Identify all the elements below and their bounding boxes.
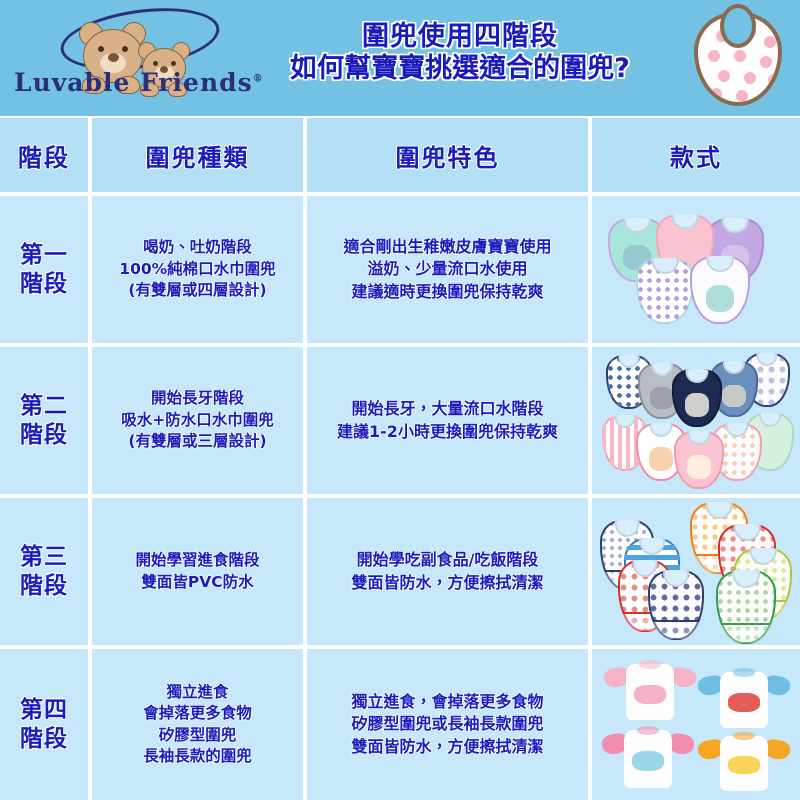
bib-type-line: 長袖長款的圍兜 (143, 746, 252, 767)
bib-type-line: 會掉落更多食物 (143, 703, 252, 724)
stage-cell: 第一 階段 (0, 196, 92, 347)
smock-collar (733, 668, 755, 676)
bib-feature-text: 開始學吃副食品/吃飯階段 雙面皆防水，方便擦拭清潔 (347, 549, 547, 593)
bib-type-line: 吸水+防水口水巾圍兜 (121, 410, 274, 431)
bib-icon (690, 8, 786, 110)
stage-label-line: 階段 (20, 270, 68, 299)
pvc-waterproof-pocket-bib-sets-image (594, 498, 798, 645)
bib-dot (768, 74, 780, 86)
bib-motif (722, 385, 745, 407)
column-header-stage-label: 階段 (18, 138, 70, 173)
column-header-type: 圍兜種類 (92, 118, 307, 196)
bib-pocket (718, 623, 773, 642)
bib-type-line: 喝奶、吐奶階段 (119, 237, 275, 258)
stage-cell: 第三 階段 (0, 498, 92, 649)
navy-dot-pvc-bib (648, 570, 704, 640)
page-title: 圍兜使用四階段 如何幫寶寶挑選適合的圍兜? (250, 22, 670, 84)
stage-label: 第四 階段 (20, 696, 68, 754)
bib-type-cell: 開始長牙階段 吸水+防水口水巾圍兜 (有雙層或三層設計) (92, 347, 307, 498)
bib-feature-line: 建議適時更換圍兜保持乾爽 (343, 281, 551, 303)
absorbent-waterproof-bib-sets-image (594, 347, 798, 494)
bib-feature-text: 適合剛出生稚嫩皮膚寶寶使用 溢奶、少量流口水使用 建議適時更換圍兜保持乾爽 (339, 236, 555, 302)
column-header-style: 款式 (592, 118, 800, 196)
bib-type-line: (有雙層或三層設計) (121, 431, 274, 452)
bib-dot (760, 56, 772, 68)
smock-motif (728, 693, 759, 712)
column-header-feature-label: 圍兜特色 (396, 138, 500, 173)
bib-dot (752, 104, 764, 106)
bib-feature-line: 溢奶、少量流口水使用 (343, 258, 551, 280)
bib-feature-cell: 獨立進食，會掉落更多食物 矽膠型圍兜或長袖長款圍兜 雙面皆防水，方便擦拭清潔 (307, 649, 592, 800)
bib-type-cell: 獨立進食 會掉落更多食物 矽膠型圍兜 長袖長款的圍兜 (92, 649, 307, 800)
page-banner: Luvable Friends® 圍兜使用四階段 如何幫寶寶挑選適合的圍兜? (0, 0, 800, 118)
bib-type-line: (有雙層或四層設計) (119, 280, 275, 301)
bib-type-line: 開始學習進食階段 (135, 550, 259, 571)
bib-dot (762, 92, 774, 104)
table-header-row: 階段 圍兜種類 圍兜特色 款式 (0, 118, 800, 196)
stage-cell: 第二 階段 (0, 347, 92, 498)
bib-type-line: 雙面皆PVC防水 (135, 572, 259, 593)
bib-style-cell (592, 498, 800, 649)
bib-pocket (650, 620, 702, 638)
bib-type-text: 開始學習進食階段 雙面皆PVC防水 (131, 550, 263, 593)
bib-dot (744, 72, 756, 84)
stage-label: 第二 階段 (20, 392, 68, 450)
purple-print-bib (636, 258, 694, 324)
bib-style-cell (592, 347, 800, 498)
bib-dot-pattern (636, 258, 694, 324)
bib-dot (708, 50, 720, 62)
pastel-cotton-bib-set-image (594, 196, 798, 343)
smock-collar (637, 726, 659, 735)
bib-motif (649, 447, 673, 470)
stage-label-line: 階段 (20, 421, 68, 450)
bib-dot (710, 88, 722, 100)
blue-balloon-smock (698, 667, 790, 731)
brand-name-text: Luvable Friends (14, 68, 253, 97)
bib-feature-text: 開始長牙，大量流口水階段 建議1-2小時更換圍兜保持乾爽 (333, 398, 562, 442)
bib-feature-text: 獨立進食，會掉落更多食物 矽膠型圍兜或長袖長款圍兜 雙面皆防水，方便擦拭清潔 (347, 691, 547, 757)
smock-motif (632, 751, 663, 771)
column-header-style-label: 款式 (670, 138, 722, 173)
bib-motif (706, 285, 735, 312)
stage-label-line: 第三 (20, 543, 68, 572)
long-sleeve-smock-bibs-image (594, 651, 798, 798)
brand-name: Luvable Friends® (14, 68, 254, 97)
column-header-type-label: 圍兜種類 (146, 138, 250, 173)
bib-style-cell (592, 649, 800, 800)
smock-motif (728, 756, 759, 775)
bib-type-text: 喝奶、吐奶階段 100%純棉口水巾圍兜 (有雙層或四層設計) (115, 237, 279, 301)
bib-dot (736, 90, 748, 102)
green-grocery-pvc-bib (716, 570, 776, 644)
stage-label-line: 第一 (20, 241, 68, 270)
bib-type-line: 矽膠型圍兜 (143, 725, 252, 746)
bib-feature-cell: 開始學吃副食品/吃飯階段 雙面皆防水，方便擦拭清潔 (307, 498, 592, 649)
bib-dot (764, 36, 776, 48)
stage-label: 第一 階段 (20, 241, 68, 299)
column-header-stage: 階段 (0, 118, 92, 196)
stage-label: 第三 階段 (20, 543, 68, 601)
table-row: 第四 階段 獨立進食 會掉落更多食物 矽膠型圍兜 長袖長款的圍兜 獨立進食，會掉… (0, 649, 800, 800)
bib-dot (718, 70, 730, 82)
pink-elephant-smock (604, 659, 696, 723)
bib-feature-line: 開始長牙，大量流口水階段 (337, 398, 558, 420)
stage-label-line: 階段 (20, 572, 68, 601)
smock-motif (634, 685, 665, 704)
bib-motif (650, 387, 673, 409)
bib-feature-cell: 開始長牙，大量流口水階段 建議1-2小時更換圍兜保持乾爽 (307, 347, 592, 498)
table-row: 第一 階段 喝奶、吐奶階段 100%純棉口水巾圍兜 (有雙層或四層設計) 適合剛… (0, 196, 800, 347)
bib-type-text: 獨立進食 會掉落更多食物 矽膠型圍兜 長袖長款的圍兜 (139, 682, 256, 768)
bib-type-cell: 喝奶、吐奶階段 100%純棉口水巾圍兜 (有雙層或四層設計) (92, 196, 307, 347)
bib-dot (726, 104, 738, 106)
bib-feature-line: 適合剛出生稚嫩皮膚寶寶使用 (343, 236, 551, 258)
page-title-line-1: 圍兜使用四階段 (250, 22, 670, 52)
stages-table: 階段 圍兜種類 圍兜特色 款式 第一 階段 喝奶、吐奶階段 100%純棉口水巾圍… (0, 118, 800, 800)
bib-feature-line: 建議1-2小時更換圍兜保持乾爽 (337, 421, 558, 443)
column-header-feature: 圍兜特色 (307, 118, 592, 196)
bib-type-line: 獨立進食 (143, 682, 252, 703)
table-row: 第三 階段 開始學習進食階段 雙面皆PVC防水 開始學吃副食品/吃飯階段 雙面皆… (0, 498, 800, 649)
stage-label-line: 第二 (20, 392, 68, 421)
page-title-line-2: 如何幫寶寶挑選適合的圍兜? (250, 54, 670, 84)
bib-type-text: 開始長牙階段 吸水+防水口水巾圍兜 (有雙層或三層設計) (117, 388, 278, 452)
stage-label-line: 第四 (20, 696, 68, 725)
bib-style-cell (592, 196, 800, 347)
bib-feature-line: 獨立進食，會掉落更多食物 (351, 691, 543, 713)
bib-feature-line: 開始學吃副食品/吃飯階段 (351, 549, 543, 571)
orange-animal-smock (698, 731, 790, 793)
bib-type-cell: 開始學習進食階段 雙面皆PVC防水 (92, 498, 307, 649)
smock-collar (639, 660, 661, 668)
bib-dot (734, 50, 746, 62)
pink-mermaid-smock (602, 725, 694, 791)
table-row: 第二 階段 開始長牙階段 吸水+防水口水巾圍兜 (有雙層或三層設計) 開始長牙，… (0, 347, 800, 498)
stage-cell: 第四 階段 (0, 649, 92, 800)
bib-feature-line: 矽膠型圍兜或長袖長款圍兜 (351, 713, 543, 735)
bib-feature-cell: 適合剛出生稚嫩皮膚寶寶使用 溢奶、少量流口水使用 建議適時更換圍兜保持乾爽 (307, 196, 592, 347)
bib-motif (687, 455, 711, 478)
navy-rookie-bib (672, 369, 722, 427)
brand-logo: Luvable Friends® (14, 6, 254, 112)
stage-label-line: 階段 (20, 725, 68, 754)
bib-motif (685, 393, 709, 416)
infographic-page: Luvable Friends® 圍兜使用四階段 如何幫寶寶挑選適合的圍兜? 階… (0, 0, 800, 800)
mermaid-bib (690, 256, 750, 324)
bib-feature-line: 雙面皆防水，方便擦拭清潔 (351, 736, 543, 758)
bib-feature-line: 雙面皆防水，方便擦拭清潔 (351, 572, 543, 594)
bib-type-line: 100%純棉口水巾圍兜 (119, 259, 275, 280)
bib-type-line: 開始長牙階段 (121, 388, 274, 409)
